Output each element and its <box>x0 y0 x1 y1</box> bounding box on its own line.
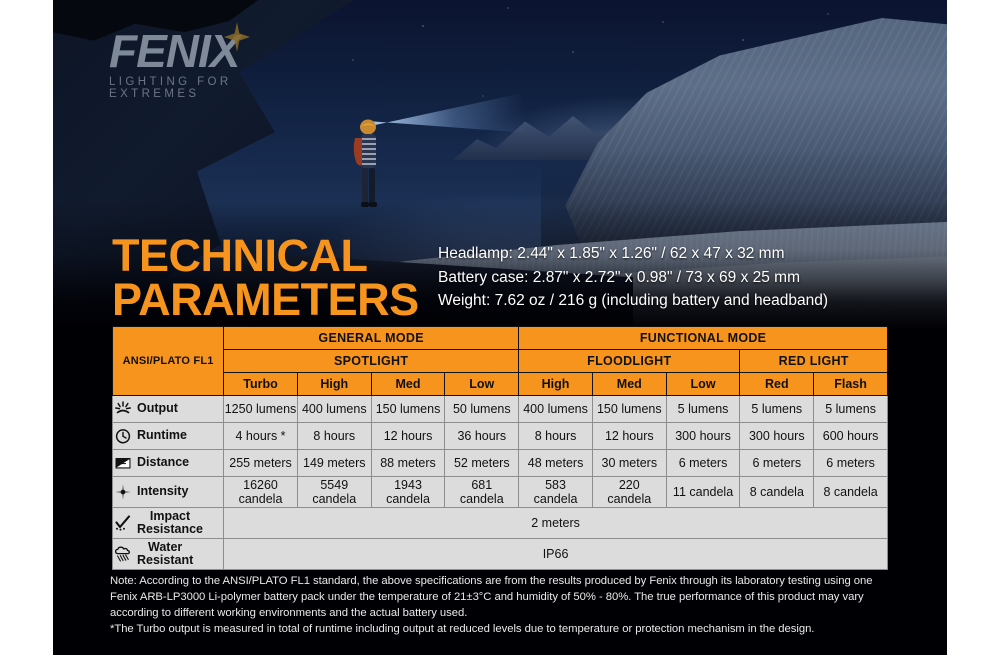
light-burst-icon <box>113 400 132 419</box>
cell-intensity-2: 1943 candela <box>371 477 445 508</box>
cell-runtime-2: 12 hours <box>371 423 445 450</box>
cell-intensity-3: 681 candela <box>445 477 519 508</box>
cell-intensity-5-num: 220 candela <box>607 478 651 506</box>
header-level-flash: Flash <box>814 373 888 396</box>
header-level-spot-turbo: Turbo <box>224 373 298 396</box>
clock-icon <box>113 427 132 446</box>
header-level-spot-low: Low <box>445 373 519 396</box>
cell-runtime-8: 600 hours <box>814 423 888 450</box>
cell-water-resistant-value: IP66 <box>224 539 888 570</box>
cell-distance-3: 52 meters <box>445 450 519 477</box>
footnote-note: Note: According to the ANSI/PLATO FL1 st… <box>110 573 892 621</box>
cell-distance-8: 6 meters <box>814 450 888 477</box>
footnote-asterisk: *The Turbo output is measured in total o… <box>110 621 892 637</box>
water-label-line1: Water <box>148 540 182 554</box>
row-label-impact-resistance: Impact Resistance <box>113 508 224 539</box>
cell-intensity-8-num: 8 candela <box>823 485 877 499</box>
cell-distance-5: 30 meters <box>592 450 666 477</box>
row-label-runtime: Runtime <box>113 423 224 450</box>
fenix-logo: FENIX LIGHTING FOR EXTREMES <box>109 28 309 100</box>
cell-output-8: 5 lumens <box>814 396 888 423</box>
specification-table: ANSI/PLATO FL1 GENERAL MODE FUNCTIONAL M… <box>112 326 888 570</box>
header-level-red: Red <box>740 373 814 396</box>
header-level-spot-high: High <box>297 373 371 396</box>
water-label-line2: Resistant <box>137 553 193 567</box>
row-label-intensity: Intensity <box>113 477 224 508</box>
cell-intensity-5: 220 candela <box>592 477 666 508</box>
row-label-distance-text: Distance <box>137 456 189 469</box>
cell-intensity-6: 11 candela <box>666 477 740 508</box>
cell-output-4: 400 lumens <box>519 396 593 423</box>
cell-distance-7: 6 meters <box>740 450 814 477</box>
cell-runtime-1: 8 hours <box>297 423 371 450</box>
cell-distance-4: 48 meters <box>519 450 593 477</box>
cell-output-5: 150 lumens <box>592 396 666 423</box>
brand-name: FENIX <box>109 28 309 74</box>
impact-label-line1: Impact <box>150 509 190 523</box>
cell-runtime-0: 4 hours * <box>224 423 298 450</box>
header-functional-mode: FUNCTIONAL MODE <box>519 327 888 350</box>
dimensions-list: Headlamp: 2.44" x 1.85" x 1.26" / 62 x 4… <box>434 234 892 313</box>
cell-distance-0: 255 meters <box>224 450 298 477</box>
table-header-mode-row: ANSI/PLATO FL1 GENERAL MODE FUNCTIONAL M… <box>113 327 888 350</box>
header-level-flood-low: Low <box>666 373 740 396</box>
page-title: TECHNICAL PARAMETERS <box>112 234 434 322</box>
cell-runtime-4: 8 hours <box>519 423 593 450</box>
headline-block: TECHNICAL PARAMETERS Headlamp: 2.44" x 1… <box>112 234 892 322</box>
cell-output-1: 400 lumens <box>297 396 371 423</box>
page-title-line1: TECHNICAL <box>112 234 434 278</box>
table-row-intensity: Intensity 16260 candela 5549 candela 194… <box>113 477 888 508</box>
cell-intensity-0: 16260 candela <box>224 477 298 508</box>
cell-distance-1: 149 meters <box>297 450 371 477</box>
row-label-runtime-text: Runtime <box>137 429 187 442</box>
cell-intensity-1: 5549 candela <box>297 477 371 508</box>
table-row-runtime: Runtime 4 hours * 8 hours 12 hours 36 ho… <box>113 423 888 450</box>
header-level-flood-med: Med <box>592 373 666 396</box>
row-label-intensity-text: Intensity <box>137 485 188 498</box>
page-title-line2: PARAMETERS <box>112 278 434 322</box>
technical-parameters-page: FENIX LIGHTING FOR EXTREMES TECHNICAL PA… <box>0 0 1000 667</box>
cell-intensity-6-num: 11 candela <box>673 485 733 499</box>
cell-output-3: 50 lumens <box>445 396 519 423</box>
table-row-output: Output 1250 lumens 400 lumens 150 lumens… <box>113 396 888 423</box>
brand-tagline: LIGHTING FOR EXTREMES <box>109 76 309 100</box>
cell-intensity-4: 583 candela <box>519 477 593 508</box>
cell-intensity-7-num: 8 candela <box>750 485 804 499</box>
table-row-impact-resistance: Impact Resistance 2 meters <box>113 508 888 539</box>
impact-check-icon <box>113 514 132 533</box>
table-row-water-resistant: Water Resistant IP66 <box>113 539 888 570</box>
header-level-flood-high: High <box>519 373 593 396</box>
dimension-headlamp: Headlamp: 2.44" x 1.85" x 1.26" / 62 x 4… <box>438 242 892 266</box>
cell-output-0: 1250 lumens <box>224 396 298 423</box>
row-label-output: Output <box>113 396 224 423</box>
cell-output-6: 5 lumens <box>666 396 740 423</box>
row-label-water-resistant-text: Water Resistant <box>137 541 193 567</box>
cell-runtime-3: 36 hours <box>445 423 519 450</box>
cell-runtime-7: 300 hours <box>740 423 814 450</box>
cell-output-2: 150 lumens <box>371 396 445 423</box>
compass-star-icon <box>113 483 132 502</box>
cell-intensity-0-num: 16260 candela <box>239 478 283 506</box>
table-row-distance: Distance 255 meters 149 meters 88 meters… <box>113 450 888 477</box>
cell-intensity-1-num: 5549 candela <box>312 478 356 506</box>
cell-intensity-8: 8 candela <box>814 477 888 508</box>
distance-icon <box>113 454 132 473</box>
row-label-water-resistant: Water Resistant <box>113 539 224 570</box>
cell-distance-6: 6 meters <box>666 450 740 477</box>
cell-intensity-7: 8 candela <box>740 477 814 508</box>
row-label-impact-resistance-text: Impact Resistance <box>137 510 203 536</box>
cell-impact-resistance-value: 2 meters <box>224 508 888 539</box>
table-header-light-row: SPOTLIGHT FLOODLIGHT RED LIGHT <box>113 350 888 373</box>
rain-cloud-icon <box>113 545 132 564</box>
table-header-level-row: Turbo High Med Low High Med Low Red Flas… <box>113 373 888 396</box>
cell-intensity-3-num: 681 candela <box>460 478 504 506</box>
cell-intensity-4-num: 583 candela <box>534 478 578 506</box>
footnote-block: Note: According to the ANSI/PLATO FL1 st… <box>110 573 892 637</box>
impact-label-line2: Resistance <box>137 522 203 536</box>
header-floodlight: FLOODLIGHT <box>519 350 740 373</box>
cell-distance-2: 88 meters <box>371 450 445 477</box>
cell-runtime-6: 300 hours <box>666 423 740 450</box>
header-general-mode: GENERAL MODE <box>224 327 519 350</box>
header-level-spot-med: Med <box>371 373 445 396</box>
dimension-weight: Weight: 7.62 oz / 216 g (including batte… <box>438 289 892 313</box>
cell-intensity-2-num: 1943 candela <box>386 478 430 506</box>
ansi-plato-label: ANSI/PLATO FL1 <box>113 327 224 396</box>
cell-output-7: 5 lumens <box>740 396 814 423</box>
row-label-distance: Distance <box>113 450 224 477</box>
row-label-output-text: Output <box>137 402 178 415</box>
header-red-light: RED LIGHT <box>740 350 888 373</box>
dimension-battery-case: Battery case: 2.87" x 2.72" x 0.98" / 73… <box>438 266 892 290</box>
cell-runtime-5: 12 hours <box>592 423 666 450</box>
header-spotlight: SPOTLIGHT <box>224 350 519 373</box>
